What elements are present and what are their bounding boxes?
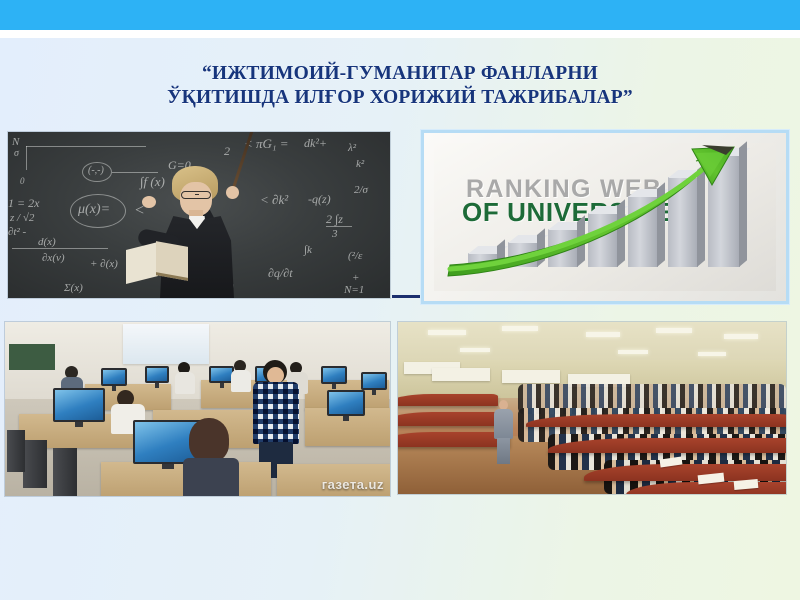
book-right-page (156, 241, 188, 281)
ceiling-light (698, 352, 726, 356)
top-white-gap (0, 30, 800, 38)
growth-arrow-icon (434, 143, 776, 291)
lab-monitor (361, 372, 387, 390)
lab-monitor (145, 366, 169, 383)
top-accent-bar (0, 0, 800, 30)
teacher-left-hand (142, 196, 156, 208)
lab-monitor (101, 368, 127, 386)
ceiling-light (724, 334, 758, 339)
teacher-right-hand (226, 186, 239, 199)
hall-scene (398, 322, 786, 494)
chalkboard-surface: N σ (-,-) 0 G=0 ∫f (x) ~ 1 = 2x z / √2 ∂… (8, 132, 390, 298)
book-left-page (126, 242, 158, 284)
wall-panel (502, 370, 560, 383)
source-watermark: газета.uz (322, 477, 384, 492)
ceiling-light (428, 330, 466, 335)
pointer-stick (230, 132, 256, 194)
lab-scene: газета.uz (5, 322, 390, 496)
ceiling-light (460, 348, 490, 352)
lab-pc-tower (7, 430, 25, 472)
lab-green-board (9, 344, 55, 370)
divider-line (392, 295, 428, 298)
slide-title: “ИЖТИМОИЙ-ГУМАНИТАР ФАНЛАРНИ ЎҚИТИШДА ИЛ… (0, 62, 800, 110)
lab-projection-screen (123, 324, 209, 364)
desk-row (398, 412, 504, 426)
photo-computer-lab: газета.uz (5, 322, 390, 496)
desk-row (398, 394, 498, 406)
photo-lecture-hall (398, 322, 786, 494)
lab-monitor (327, 390, 365, 416)
wall-panel (432, 368, 490, 381)
open-book (126, 242, 188, 282)
ranking-inner-panel: RANKING WEB OF UNIVERSITIES (434, 143, 776, 291)
desk-row (526, 414, 786, 427)
ceiling-light (656, 328, 692, 333)
lab-monitor (53, 388, 105, 422)
photo-blackboard-teacher: N σ (-,-) 0 G=0 ∫f (x) ~ 1 = 2x z / √2 ∂… (8, 132, 390, 298)
lab-monitor (321, 366, 347, 384)
slide-title-line-1: “ИЖТИМОИЙ-ГУМАНИТАР ФАНЛАРНИ (0, 62, 800, 86)
teacher-figure (134, 166, 264, 298)
ceiling-light (618, 350, 648, 354)
slide-title-line-2: ЎҚИТИШДА ИЛҒОР ХОРИЖИЙ ТАЖРИБАЛАР” (0, 86, 800, 110)
photo-ranking-web-chart: RANKING WEB OF UNIVERSITIES (424, 133, 786, 301)
teacher-glasses (181, 191, 211, 199)
ranking-backdrop: RANKING WEB OF UNIVERSITIES (424, 133, 786, 301)
lab-pc-tower (23, 440, 47, 488)
desk-row (548, 438, 786, 453)
lab-pc-tower (53, 448, 77, 496)
speaker-legs (497, 438, 510, 464)
ceiling-light (502, 326, 538, 331)
ceiling-light (586, 332, 620, 337)
speaker-torso (494, 409, 513, 439)
